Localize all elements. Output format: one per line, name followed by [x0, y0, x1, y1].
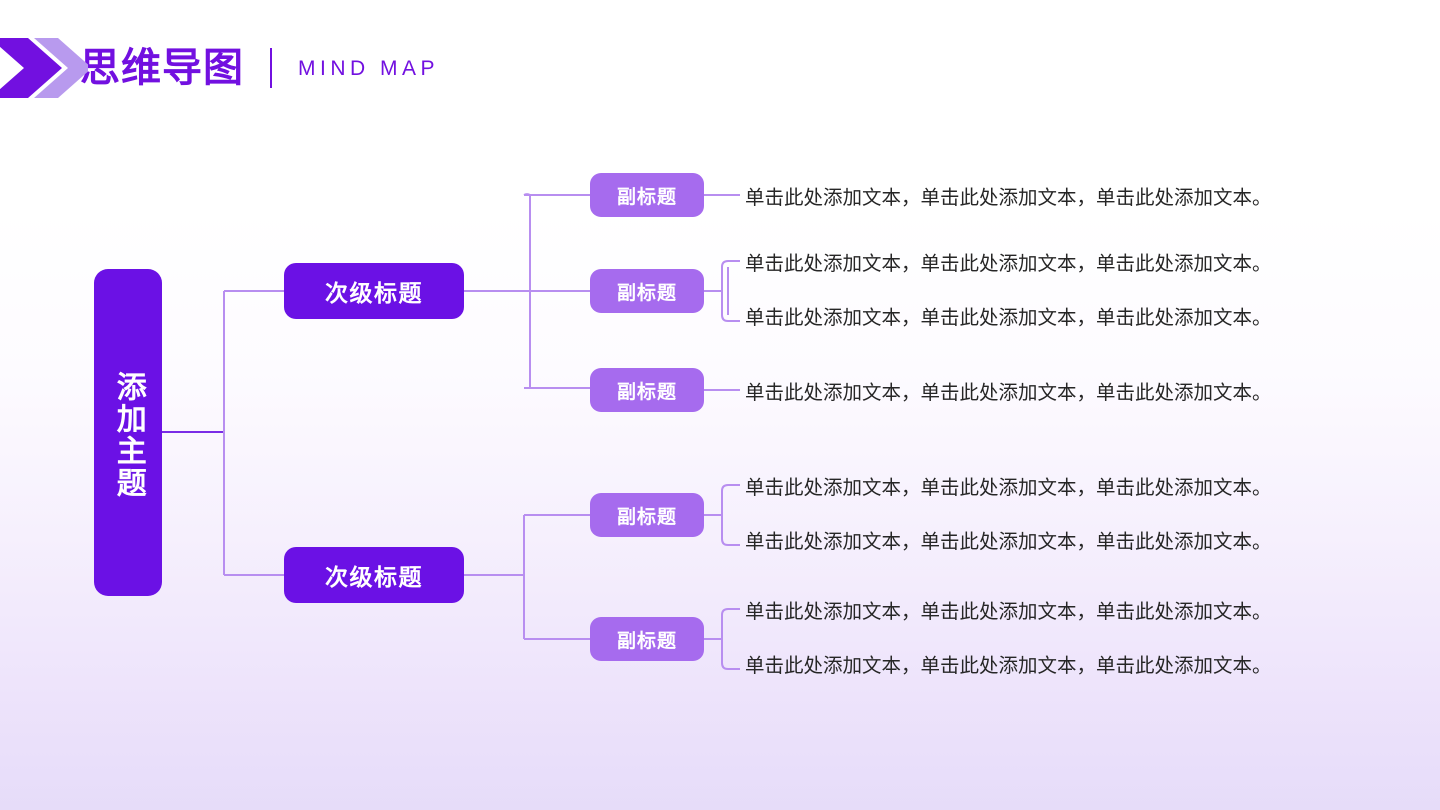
mindmap-subtitle-node-4[interactable]: 副标题 — [590, 493, 704, 537]
leaf-text-1-1: 单击此处添加文本，单击此处添加文本，单击此处添加文本。 — [745, 188, 1272, 208]
mindmap-connectors — [0, 0, 1440, 810]
mindmap-branch-node-1[interactable]: 次级标题 — [284, 263, 464, 319]
leaf-text-5-1: 单击此处添加文本，单击此处添加文本，单击此处添加文本。 — [745, 602, 1272, 622]
mindmap-subtitle-node-3[interactable]: 副标题 — [590, 368, 704, 412]
leaf-text-3-1: 单击此处添加文本，单击此处添加文本，单击此处添加文本。 — [745, 383, 1272, 403]
mindmap-branch-node-2[interactable]: 次级标题 — [284, 547, 464, 603]
leaf-text-5-2: 单击此处添加文本，单击此处添加文本，单击此处添加文本。 — [745, 656, 1272, 676]
mindmap: 添加主题 次级标题 次级标题 副标题 副标题 副标题 副标题 副标题 单击此处添… — [0, 0, 1440, 810]
mindmap-subtitle-node-2[interactable]: 副标题 — [590, 269, 704, 313]
leaf-text-2-1: 单击此处添加文本，单击此处添加文本，单击此处添加文本。 — [745, 254, 1272, 274]
leaf-text-2-2: 单击此处添加文本，单击此处添加文本，单击此处添加文本。 — [745, 308, 1272, 328]
mindmap-subtitle-node-1[interactable]: 副标题 — [590, 173, 704, 217]
mindmap-subtitle-node-5[interactable]: 副标题 — [590, 617, 704, 661]
leaf-text-4-2: 单击此处添加文本，单击此处添加文本，单击此处添加文本。 — [745, 532, 1272, 552]
slide-canvas: 思维导图 MIND MAP — [0, 0, 1440, 810]
leaf-text-4-1: 单击此处添加文本，单击此处添加文本，单击此处添加文本。 — [745, 478, 1272, 498]
mindmap-root-node[interactable]: 添加主题 — [94, 269, 162, 596]
